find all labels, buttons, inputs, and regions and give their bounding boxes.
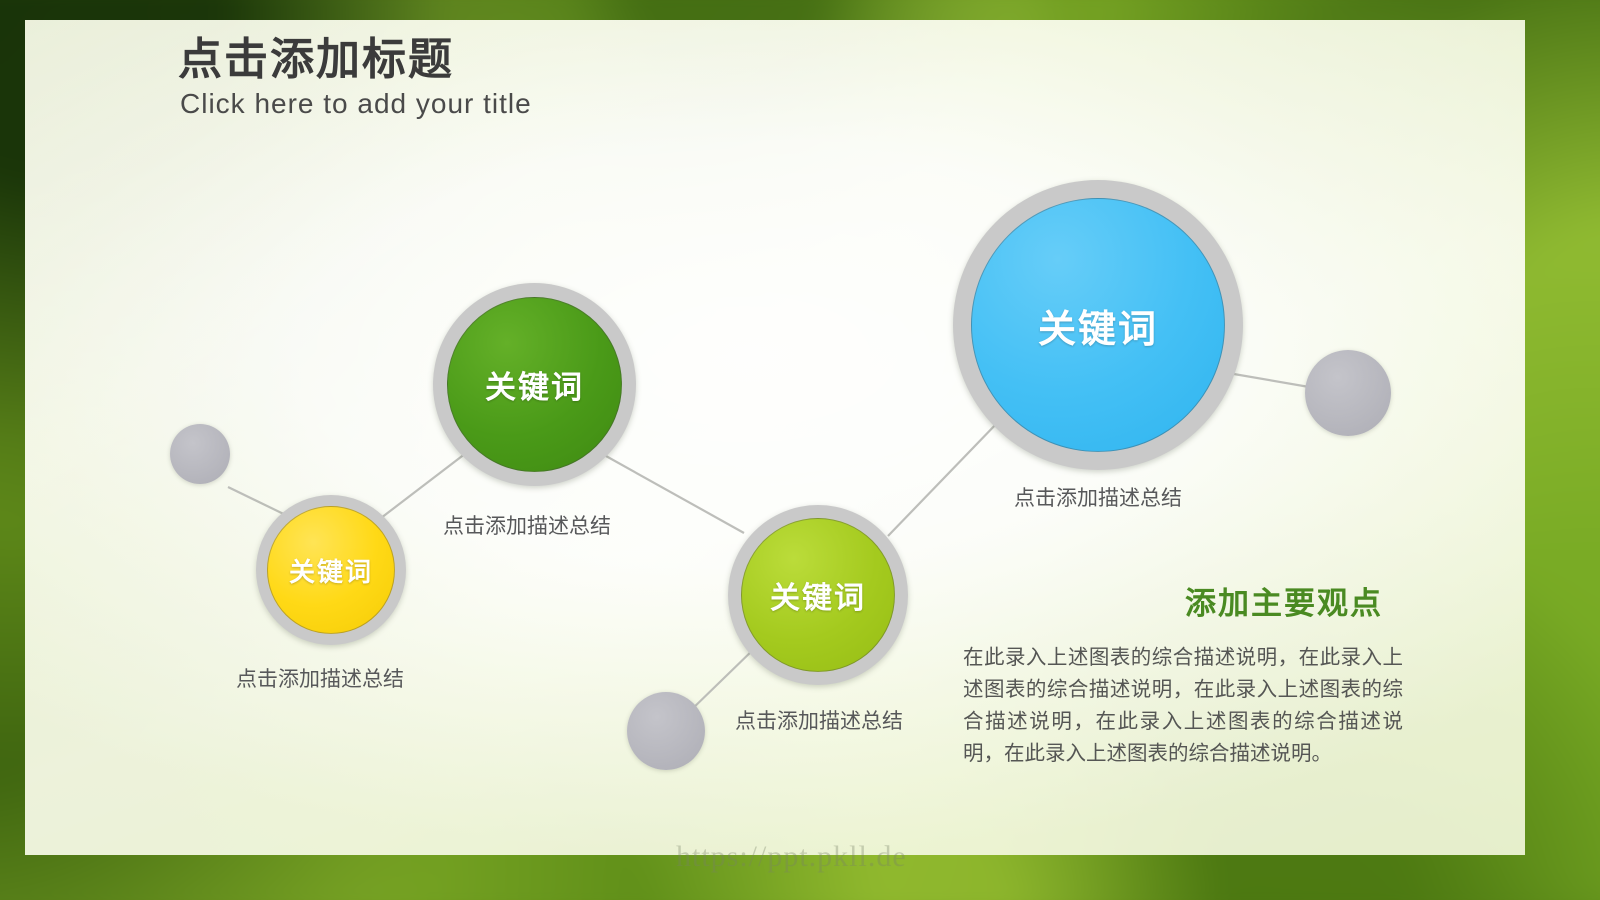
node-green-disc: 关键词 bbox=[447, 297, 622, 472]
node-blue-keyword: 关键词 bbox=[1038, 298, 1158, 353]
node-yellow-disc: 关键词 bbox=[267, 506, 395, 634]
node-lime-disc: 关键词 bbox=[741, 518, 895, 672]
node-lime[interactable]: 关键词 bbox=[728, 505, 908, 685]
node-yellow-caption[interactable]: 点击添加描述总结 bbox=[236, 663, 404, 693]
node-yellow[interactable]: 关键词 bbox=[256, 495, 406, 645]
slide: 点击添加标题 Click here to add your title 关键词 … bbox=[0, 0, 1600, 900]
decor-dot-right bbox=[1305, 350, 1391, 436]
node-green-caption[interactable]: 点击添加描述总结 bbox=[443, 510, 611, 540]
node-lime-caption[interactable]: 点击添加描述总结 bbox=[735, 705, 903, 735]
decor-dot-bottom bbox=[627, 692, 705, 770]
node-blue-caption[interactable]: 点击添加描述总结 bbox=[1014, 482, 1182, 512]
node-yellow-keyword: 关键词 bbox=[289, 552, 373, 589]
link-blue-dot3 bbox=[1228, 373, 1315, 388]
node-green[interactable]: 关键词 bbox=[433, 283, 636, 486]
link-lime-blue bbox=[888, 420, 1000, 536]
node-blue-disc: 关键词 bbox=[971, 198, 1225, 452]
node-blue[interactable]: 关键词 bbox=[953, 180, 1243, 470]
link-lime-dot2 bbox=[688, 646, 757, 713]
node-green-keyword: 关键词 bbox=[485, 362, 584, 407]
link-yellow-green bbox=[381, 450, 470, 518]
decor-dot-left bbox=[170, 424, 230, 484]
link-green-lime bbox=[597, 451, 744, 533]
side-body[interactable]: 在此录入上述图表的综合描述说明，在此录入上述图表的综合描述说明，在此录入上述图表… bbox=[963, 641, 1403, 769]
side-heading[interactable]: 添加主要观点 bbox=[1185, 578, 1403, 623]
watermark: https://ppt.pkll.de bbox=[676, 840, 907, 874]
node-lime-keyword: 关键词 bbox=[770, 573, 866, 617]
side-text-block: 添加主要观点 在此录入上述图表的综合描述说明，在此录入上述图表的综合描述说明，在… bbox=[963, 578, 1403, 769]
